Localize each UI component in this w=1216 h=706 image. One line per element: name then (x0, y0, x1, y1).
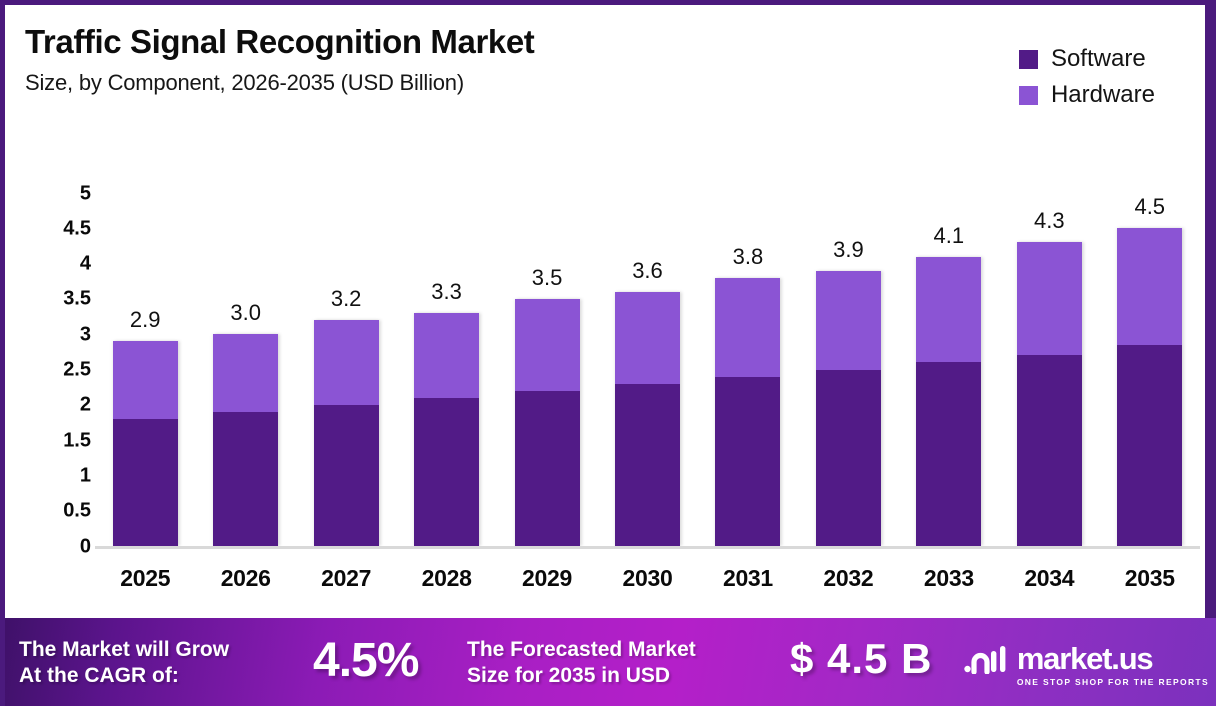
bar-slot-2029: 3.5 (497, 193, 597, 546)
bar-segment-software[interactable] (715, 377, 780, 546)
stacked-bar[interactable] (715, 278, 780, 546)
bar-segment-hardware[interactable] (1017, 242, 1082, 355)
y-axis: 54.543.532.521.510.50 (33, 191, 91, 549)
x-axis-tick-label: 2029 (497, 565, 597, 599)
y-axis-tick-label: 4.5 (63, 217, 91, 240)
legend-swatch-icon (1019, 86, 1038, 105)
stacked-bar[interactable] (615, 292, 680, 546)
bar-value-label: 3.5 (532, 265, 563, 291)
stacked-bar[interactable] (515, 299, 580, 546)
bar-segment-hardware[interactable] (515, 299, 580, 391)
bar-value-label: 3.2 (331, 286, 362, 312)
bar-group: 2.93.03.23.33.53.63.83.94.14.34.5 (95, 193, 1200, 546)
cagr-value: 4.5% (313, 633, 418, 688)
x-axis-tick-label: 2032 (798, 565, 898, 599)
y-axis-tick-label: 4 (80, 253, 91, 276)
bar-segment-software[interactable] (113, 419, 178, 546)
y-axis-tick-label: 0.5 (63, 500, 91, 523)
x-axis-tick-label: 2034 (999, 565, 1099, 599)
bar-slot-2025: 2.9 (95, 193, 195, 546)
stacked-bar[interactable] (916, 257, 981, 546)
bar-value-label: 3.9 (833, 237, 864, 263)
cagr-caption-line-2: At the CAGR of: (19, 663, 229, 689)
y-axis-tick-label: 2 (80, 394, 91, 417)
x-axis-tick-label: 2035 (1100, 565, 1200, 599)
bar-slot-2030: 3.6 (597, 193, 697, 546)
page-title: Traffic Signal Recognition Market (25, 23, 534, 61)
bar-slot-2035: 4.5 (1100, 193, 1200, 546)
bar-segment-software[interactable] (414, 398, 479, 546)
bar-value-label: 4.5 (1134, 194, 1165, 220)
x-axis-tick-label: 2025 (95, 565, 195, 599)
bar-segment-hardware[interactable] (314, 320, 379, 405)
bar-segment-software[interactable] (515, 391, 580, 546)
brand-tagline: ONE STOP SHOP FOR THE REPORTS (1017, 677, 1209, 687)
stacked-bar[interactable] (414, 313, 479, 546)
x-axis-tick-label: 2033 (899, 565, 999, 599)
bar-value-label: 3.8 (733, 244, 764, 270)
bar-slot-2026: 3.0 (195, 193, 295, 546)
bar-value-label: 4.3 (1034, 208, 1065, 234)
bar-value-label: 3.0 (230, 300, 261, 326)
x-axis-tick-label: 2030 (597, 565, 697, 599)
bar-value-label: 2.9 (130, 307, 161, 333)
y-axis-tick-label: 5 (80, 182, 91, 205)
bar-slot-2028: 3.3 (396, 193, 496, 546)
cagr-caption-line-1: The Market will Grow (19, 637, 229, 663)
y-axis-tick-label: 2.5 (63, 359, 91, 382)
bar-segment-hardware[interactable] (213, 334, 278, 412)
bar-segment-hardware[interactable] (113, 341, 178, 419)
y-axis-tick-label: 1.5 (63, 429, 91, 452)
bar-segment-software[interactable] (1117, 345, 1182, 546)
bar-segment-hardware[interactable] (715, 278, 780, 377)
bar-segment-software[interactable] (816, 370, 881, 546)
legend-label: Software (1051, 45, 1146, 73)
y-axis-tick-label: 3.5 (63, 288, 91, 311)
bar-segment-software[interactable] (213, 412, 278, 546)
bar-value-label: 3.3 (431, 279, 462, 305)
legend-item-software[interactable]: Software (1019, 45, 1155, 73)
bar-slot-2031: 3.8 (698, 193, 798, 546)
forecast-size-caption: The Forecasted Market Size for 2035 in U… (467, 637, 696, 688)
bar-segment-software[interactable] (615, 384, 680, 546)
x-axis-tick-label: 2026 (195, 565, 295, 599)
legend-item-hardware[interactable]: Hardware (1019, 81, 1155, 109)
chart-subtitle: Size, by Component, 2026-2035 (USD Billi… (25, 70, 534, 96)
stacked-bar[interactable] (816, 271, 881, 546)
bar-segment-software[interactable] (1017, 355, 1082, 546)
x-axis: 2025202620272028202920302031203220332034… (95, 565, 1200, 599)
y-axis-tick-label: 1 (80, 464, 91, 487)
forecast-caption-line-1: The Forecasted Market (467, 637, 696, 663)
legend-label: Hardware (1051, 81, 1155, 109)
bar-slot-2032: 3.9 (798, 193, 898, 546)
stacked-bar[interactable] (314, 320, 379, 546)
bar-slot-2033: 4.1 (899, 193, 999, 546)
forecast-caption-line-2: Size for 2035 in USD (467, 663, 696, 689)
x-axis-tick-label: 2027 (296, 565, 396, 599)
bar-segment-hardware[interactable] (816, 271, 881, 370)
bar-segment-software[interactable] (314, 405, 379, 546)
cagr-caption: The Market will Grow At the CAGR of: (19, 637, 229, 688)
axis-baseline (95, 546, 1200, 549)
bar-slot-2034: 4.3 (999, 193, 1099, 546)
brand-logo[interactable]: market.us ONE STOP SHOP FOR THE REPORTS (964, 642, 1209, 687)
bar-value-label: 4.1 (934, 223, 965, 249)
forecast-size-value: $ 4.5 B (790, 635, 932, 683)
legend-swatch-icon (1019, 50, 1038, 69)
bar-segment-hardware[interactable] (916, 257, 981, 363)
footer-banner: The Market will Grow At the CAGR of: 4.5… (5, 618, 1216, 706)
y-axis-tick-label: 0 (80, 535, 91, 558)
market-us-logo-icon (964, 644, 1008, 679)
stacked-bar[interactable] (1117, 228, 1182, 546)
bar-value-label: 3.6 (632, 258, 663, 284)
stacked-bar[interactable] (113, 341, 178, 546)
bar-segment-hardware[interactable] (414, 313, 479, 398)
header: Traffic Signal Recognition Market Size, … (25, 23, 534, 96)
chart-legend: SoftwareHardware (1019, 45, 1155, 109)
x-axis-tick-label: 2031 (698, 565, 798, 599)
brand-text: market.us ONE STOP SHOP FOR THE REPORTS (1017, 642, 1209, 687)
stacked-bar[interactable] (213, 334, 278, 546)
bar-slot-2027: 3.2 (296, 193, 396, 546)
bar-segment-hardware[interactable] (615, 292, 680, 384)
stacked-bar[interactable] (1017, 242, 1082, 546)
bar-segment-hardware[interactable] (1117, 228, 1182, 344)
x-axis-tick-label: 2028 (396, 565, 496, 599)
plot-area: 2.93.03.23.33.53.63.83.94.14.34.5 (95, 191, 1200, 549)
bar-segment-software[interactable] (916, 362, 981, 546)
brand-name: market.us (1017, 643, 1209, 674)
y-axis-tick-label: 3 (80, 323, 91, 346)
chart-infographic: Traffic Signal Recognition Market Size, … (0, 0, 1216, 706)
